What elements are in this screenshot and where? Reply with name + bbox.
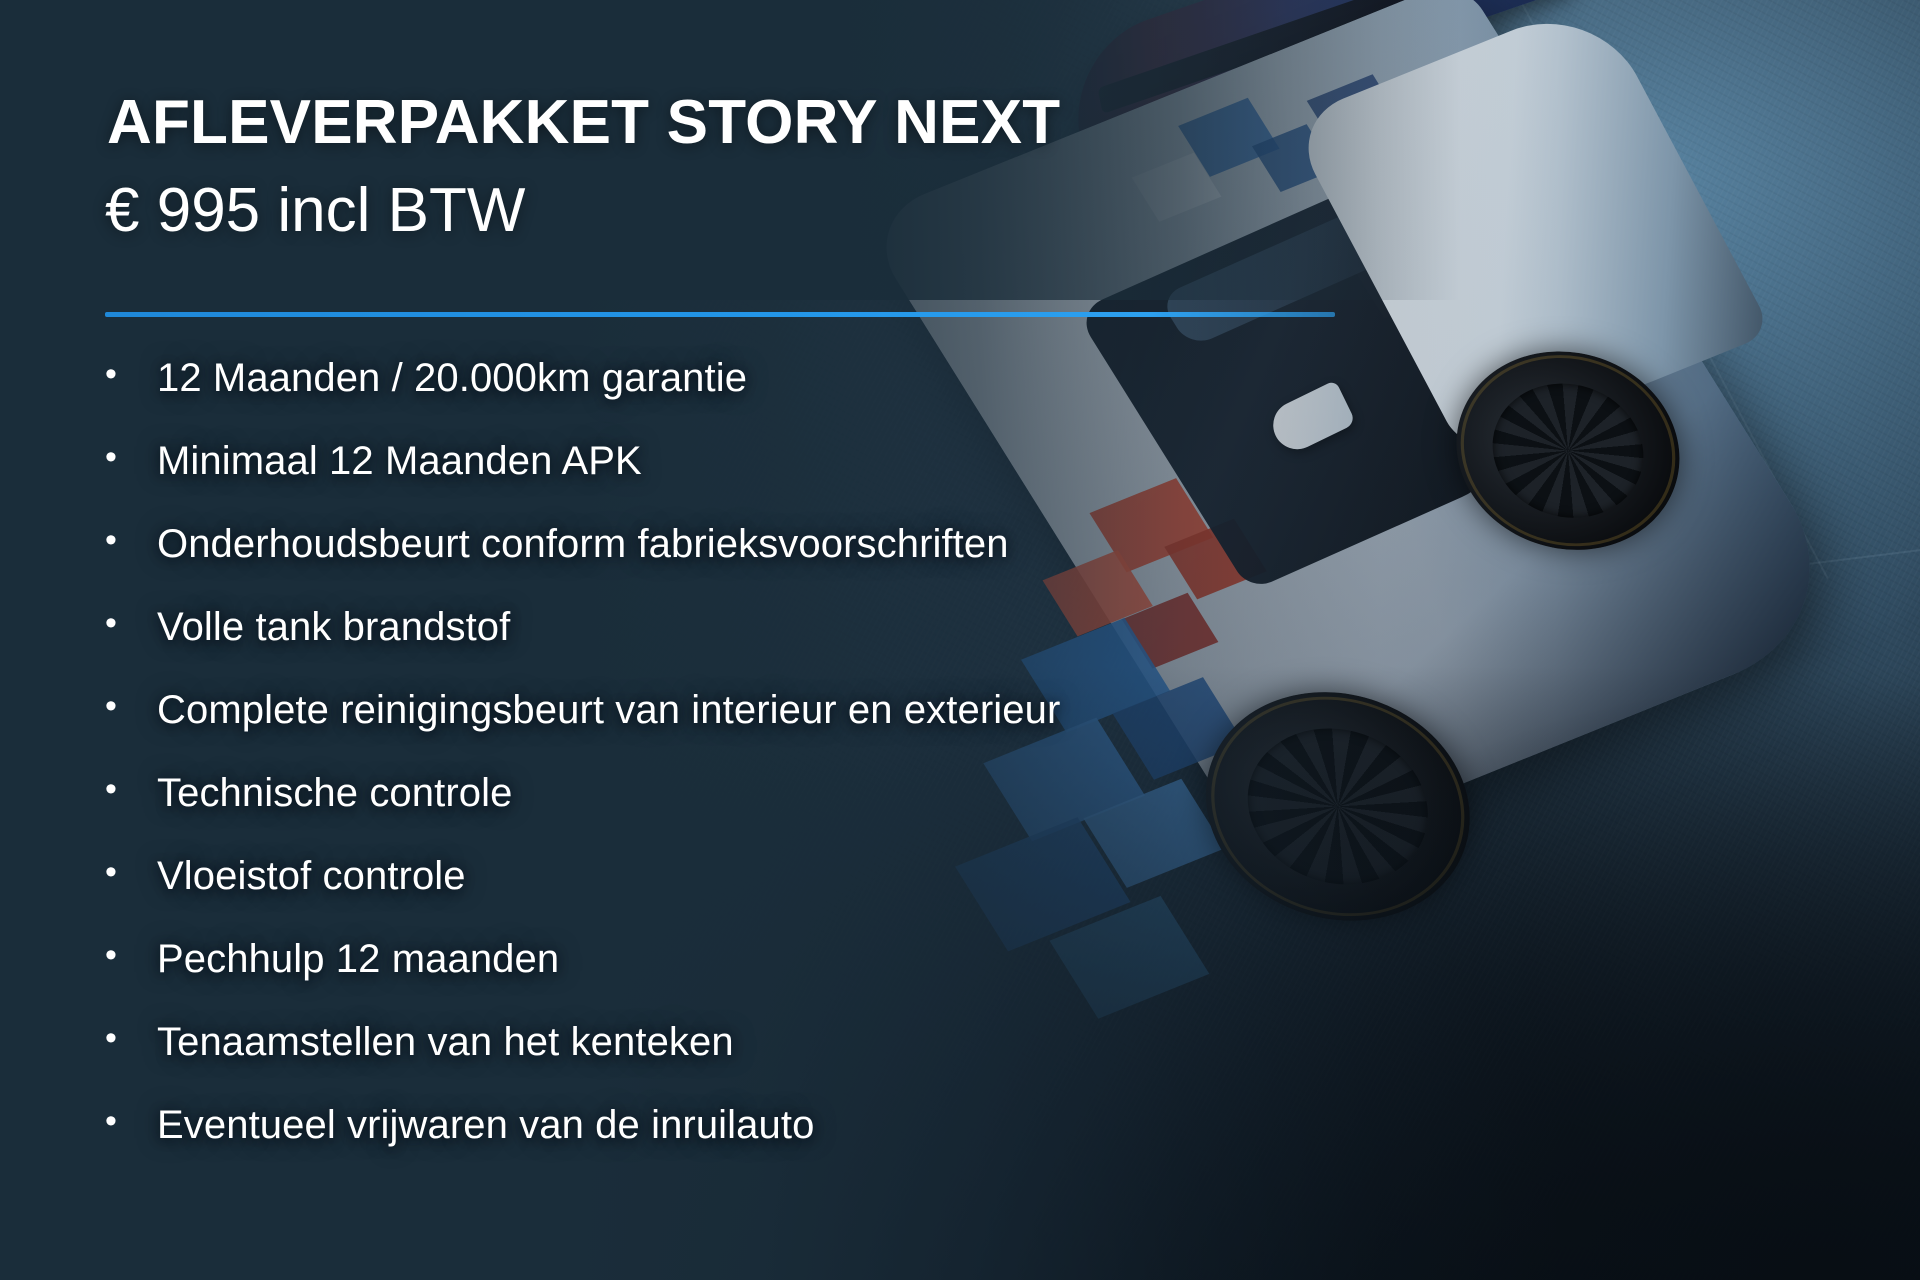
- list-item-label: Technische controle: [157, 771, 512, 816]
- list-item: • Volle tank brandstof: [105, 605, 1705, 688]
- list-item: • 12 Maanden / 20.000km garantie: [105, 356, 1705, 439]
- list-item: • Minimaal 12 Maanden APK: [105, 439, 1705, 522]
- list-item-label: Minimaal 12 Maanden APK: [157, 439, 642, 484]
- bullet-icon: •: [105, 1021, 157, 1055]
- list-item-label: Tenaamstellen van het kenteken: [157, 1020, 734, 1065]
- price-subtitle: € 995 incl BTW: [105, 180, 525, 242]
- slide-root: AFLEVERPAKKET STORY NEXT € 995 incl BTW …: [0, 0, 1920, 1280]
- bullet-icon: •: [105, 855, 157, 889]
- slide-content: AFLEVERPAKKET STORY NEXT € 995 incl BTW …: [0, 0, 1920, 1280]
- list-item: • Eventueel vrijwaren van de inruilauto: [105, 1103, 1705, 1186]
- bullet-icon: •: [105, 1104, 157, 1138]
- list-item: • Technische controle: [105, 771, 1705, 854]
- title-divider: [105, 312, 1335, 317]
- list-item-label: Pechhulp 12 maanden: [157, 937, 559, 982]
- list-item-label: Complete reinigingsbeurt van interieur e…: [157, 688, 1060, 733]
- list-item-label: Onderhoudsbeurt conform fabrieksvoorschr…: [157, 522, 1009, 567]
- feature-list: • 12 Maanden / 20.000km garantie • Minim…: [105, 356, 1705, 1186]
- list-item-label: 12 Maanden / 20.000km garantie: [157, 356, 747, 401]
- list-item: • Pechhulp 12 maanden: [105, 937, 1705, 1020]
- bullet-icon: •: [105, 440, 157, 474]
- list-item: • Onderhoudsbeurt conform fabrieksvoorsc…: [105, 522, 1705, 605]
- bullet-icon: •: [105, 606, 157, 640]
- bullet-icon: •: [105, 357, 157, 391]
- bullet-icon: •: [105, 772, 157, 806]
- page-title: AFLEVERPAKKET STORY NEXT: [107, 92, 1060, 154]
- bullet-icon: •: [105, 523, 157, 557]
- list-item-label: Eventueel vrijwaren van de inruilauto: [157, 1103, 814, 1148]
- bullet-icon: •: [105, 938, 157, 972]
- list-item-label: Volle tank brandstof: [157, 605, 510, 650]
- list-item: • Vloeistof controle: [105, 854, 1705, 937]
- list-item: • Complete reinigingsbeurt van interieur…: [105, 688, 1705, 771]
- list-item-label: Vloeistof controle: [157, 854, 466, 899]
- bullet-icon: •: [105, 689, 157, 723]
- list-item: • Tenaamstellen van het kenteken: [105, 1020, 1705, 1103]
